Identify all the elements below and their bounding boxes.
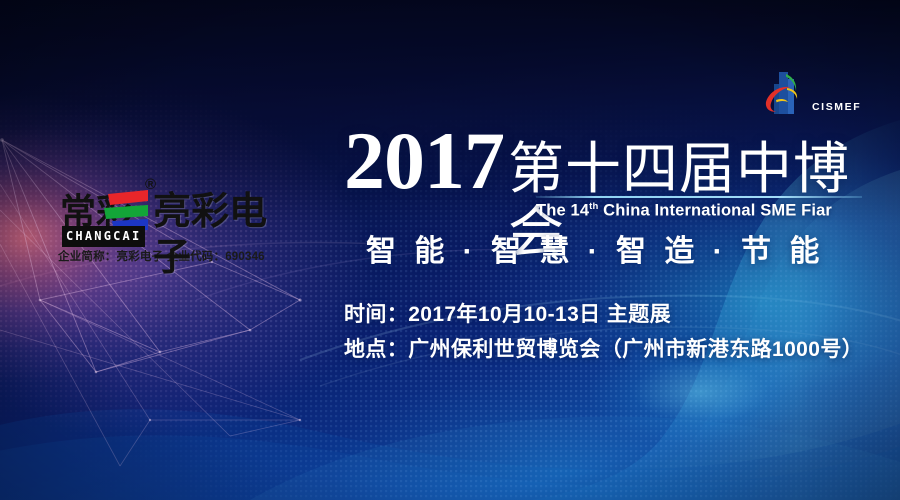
changcai-brand-english: CHANGCAI (66, 229, 141, 243)
event-info-block: 时间：2017年10月10-13日 主题展 地点：广州保利世贸博览会（广州市新港… (344, 297, 863, 367)
changcai-company-logo: 常彩 亮彩电子 ® CHANGCAI 企业简称：亮彩电子 企业代码：690346 (60, 188, 290, 264)
registered-trademark-icon: ® (145, 176, 156, 193)
event-date-line: 时间：2017年10月10-13日 主题展 (344, 297, 863, 332)
event-title-block: 2017 第十四届中博会 The 14th China Internationa… (344, 124, 864, 221)
event-title-english: The 14th China International SME Fiar (536, 201, 866, 221)
event-slogan: 智 能 · 智 慧 · 智 造 · 节 能 (366, 226, 824, 270)
title-main-row: 2017 第十四届中博会 (344, 124, 864, 198)
title-en-suffix: China International SME Fiar (598, 202, 832, 220)
event-year: 2017 (344, 124, 504, 198)
cismef-mark-icon (762, 68, 806, 118)
changcai-brand-chinese: 亮彩电子 (153, 188, 290, 280)
changcai-logo-main: 常彩 亮彩电子 ® CHANGCAI (60, 188, 290, 240)
changcai-brand-english-bar: CHANGCAI (62, 226, 145, 247)
title-en-prefix: The 14 (536, 202, 589, 220)
cismef-wordmark: CISMEF (812, 101, 861, 113)
promotional-banner: CISMEF 2017 第十四届中博会 The 14th China Inter… (0, 0, 900, 500)
event-venue-line: 地点：广州保利世贸博览会（广州市新港东路1000号） (344, 332, 863, 367)
title-divider-rule (536, 196, 862, 198)
event-title-english-wrap: The 14th China International SME Fiar (536, 196, 866, 221)
cismef-logo: CISMEF (762, 66, 861, 118)
